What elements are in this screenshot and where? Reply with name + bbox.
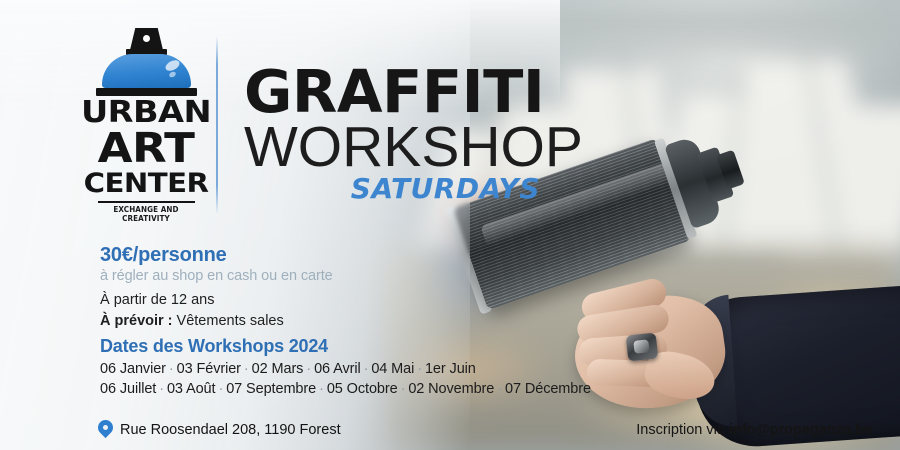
dates-block: Dates des Workshops 2024 06 Janvier·03 F… [100, 336, 591, 397]
logo-divider-rule [98, 201, 195, 203]
date-separator: · [215, 381, 226, 397]
date-item: 06 Avril [314, 361, 361, 377]
date-item: 04 Mai [371, 361, 414, 377]
date-item: 06 Janvier [100, 361, 166, 377]
date-item: 07 Décembre [505, 381, 591, 397]
date-item: 03 Août [167, 381, 216, 397]
bring-requirement: À prévoir : Vêtements sales [100, 311, 284, 332]
dates-title: Dates des Workshops 2024 [100, 336, 591, 357]
requirements-block: À partir de 12 ans À prévoir : Vêtements… [100, 290, 284, 332]
address-text: Rue Roosendael 208, 1190 Forest [120, 422, 341, 438]
dates-row-first-half: 06 Janvier·03 Février·02 Mars·06 Avril·0… [100, 361, 591, 377]
urban-art-center-logo: URBAN ART CENTER EXCHANGE AND CREATIVITY [86, 28, 206, 218]
address-block: Rue Roosendael 208, 1190 Forest [98, 420, 341, 440]
bring-label: À prévoir : [100, 313, 173, 329]
date-separator: · [166, 361, 177, 377]
date-separator: · [398, 381, 409, 397]
headline-block: GRAFFITI WORKSHOP SATURDAYS [244, 64, 664, 205]
date-item: 06 Juillet [100, 381, 156, 397]
price-block: 30€/personne à régler au shop en cash ou… [100, 244, 333, 284]
logo-can-dome [102, 54, 191, 88]
logo-line-art: ART [80, 128, 212, 169]
price-note: à régler au shop en cash ou en carte [100, 268, 333, 284]
date-item: 07 Septembre [226, 381, 316, 397]
poster-canvas: URBAN ART CENTER EXCHANGE AND CREATIVITY… [0, 0, 900, 450]
date-item: 02 Mars [252, 361, 304, 377]
date-separator: · [316, 381, 327, 397]
date-separator: · [241, 361, 252, 377]
date-item: 02 Novembre [408, 381, 494, 397]
spray-can-icon [130, 28, 163, 50]
signup-label: Inscription via [636, 422, 725, 438]
price-amount: 30€/personne [100, 244, 333, 267]
signup-block: Inscription via info@propaganza.be [636, 422, 872, 438]
date-separator: · [156, 381, 167, 397]
signup-email[interactable]: info@propaganza.be [729, 422, 872, 438]
vertical-divider [216, 36, 218, 214]
date-separator: · [414, 361, 425, 377]
logo-tagline: EXCHANGE AND CREATIVITY [88, 205, 203, 223]
headline-workshop: WORKSHOP [244, 118, 664, 176]
hand-photo [575, 280, 785, 430]
date-separator: · [361, 361, 372, 377]
date-item: 03 Février [177, 361, 241, 377]
logo-line-center: CENTER [81, 170, 211, 197]
date-separator: · [494, 381, 505, 397]
dates-row-second-half: 06 Juillet·03 Août·07 Septembre·05 Octob… [100, 381, 591, 397]
headline-graffiti: GRAFFITI [244, 64, 664, 120]
bring-value: Vêtements sales [177, 313, 284, 329]
date-item: 1er Juin [425, 361, 476, 377]
location-pin-icon [98, 420, 113, 440]
date-item: 05 Octobre [327, 381, 398, 397]
ring-jewelry [626, 333, 659, 362]
date-separator: · [303, 361, 314, 377]
age-requirement: À partir de 12 ans [100, 290, 284, 311]
